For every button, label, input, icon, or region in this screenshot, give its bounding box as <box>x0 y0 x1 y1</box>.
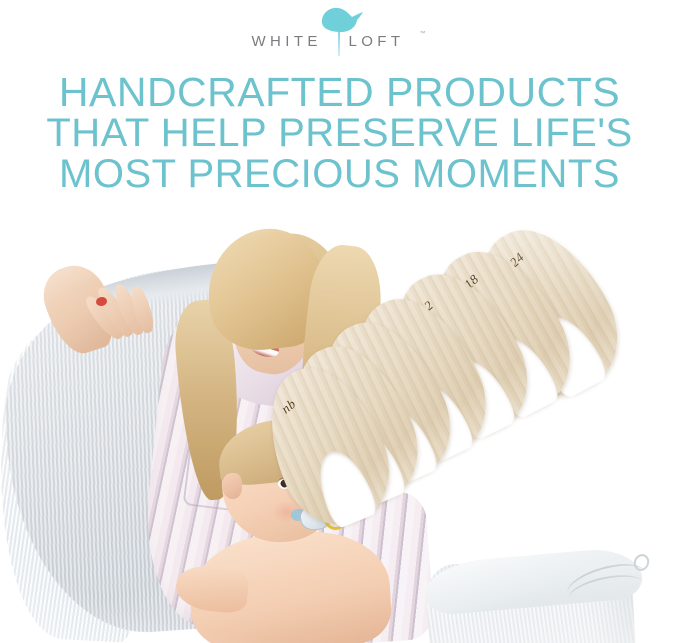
headline-line-1: HANDCRAFTED PRODUCTS <box>0 72 679 113</box>
brand-word-loft: LOFT <box>349 33 405 50</box>
headline: HANDCRAFTED PRODUCTS THAT HELP PRESERVE … <box>0 72 679 195</box>
brand-word-white: WHITE <box>252 33 322 50</box>
trademark-symbol: ™ <box>420 31 426 37</box>
photo-scene: 18-24 12-18 9-12 6-9 3-6 0-3 nb <box>0 215 679 643</box>
divider-label: nb <box>278 396 299 417</box>
logo-perch-post <box>338 32 340 56</box>
baby-ear <box>222 473 242 499</box>
brand-logo: WHITE LOFT ™ <box>0 4 679 56</box>
headline-line-3: MOST PRECIOUS MOMENTS <box>0 154 679 195</box>
headline-line-2: THAT HELP PRESERVE LIFE'S <box>0 113 679 154</box>
lifestyle-photo: 18-24 12-18 9-12 6-9 3-6 0-3 nb <box>0 215 679 643</box>
bird-icon <box>316 6 364 36</box>
